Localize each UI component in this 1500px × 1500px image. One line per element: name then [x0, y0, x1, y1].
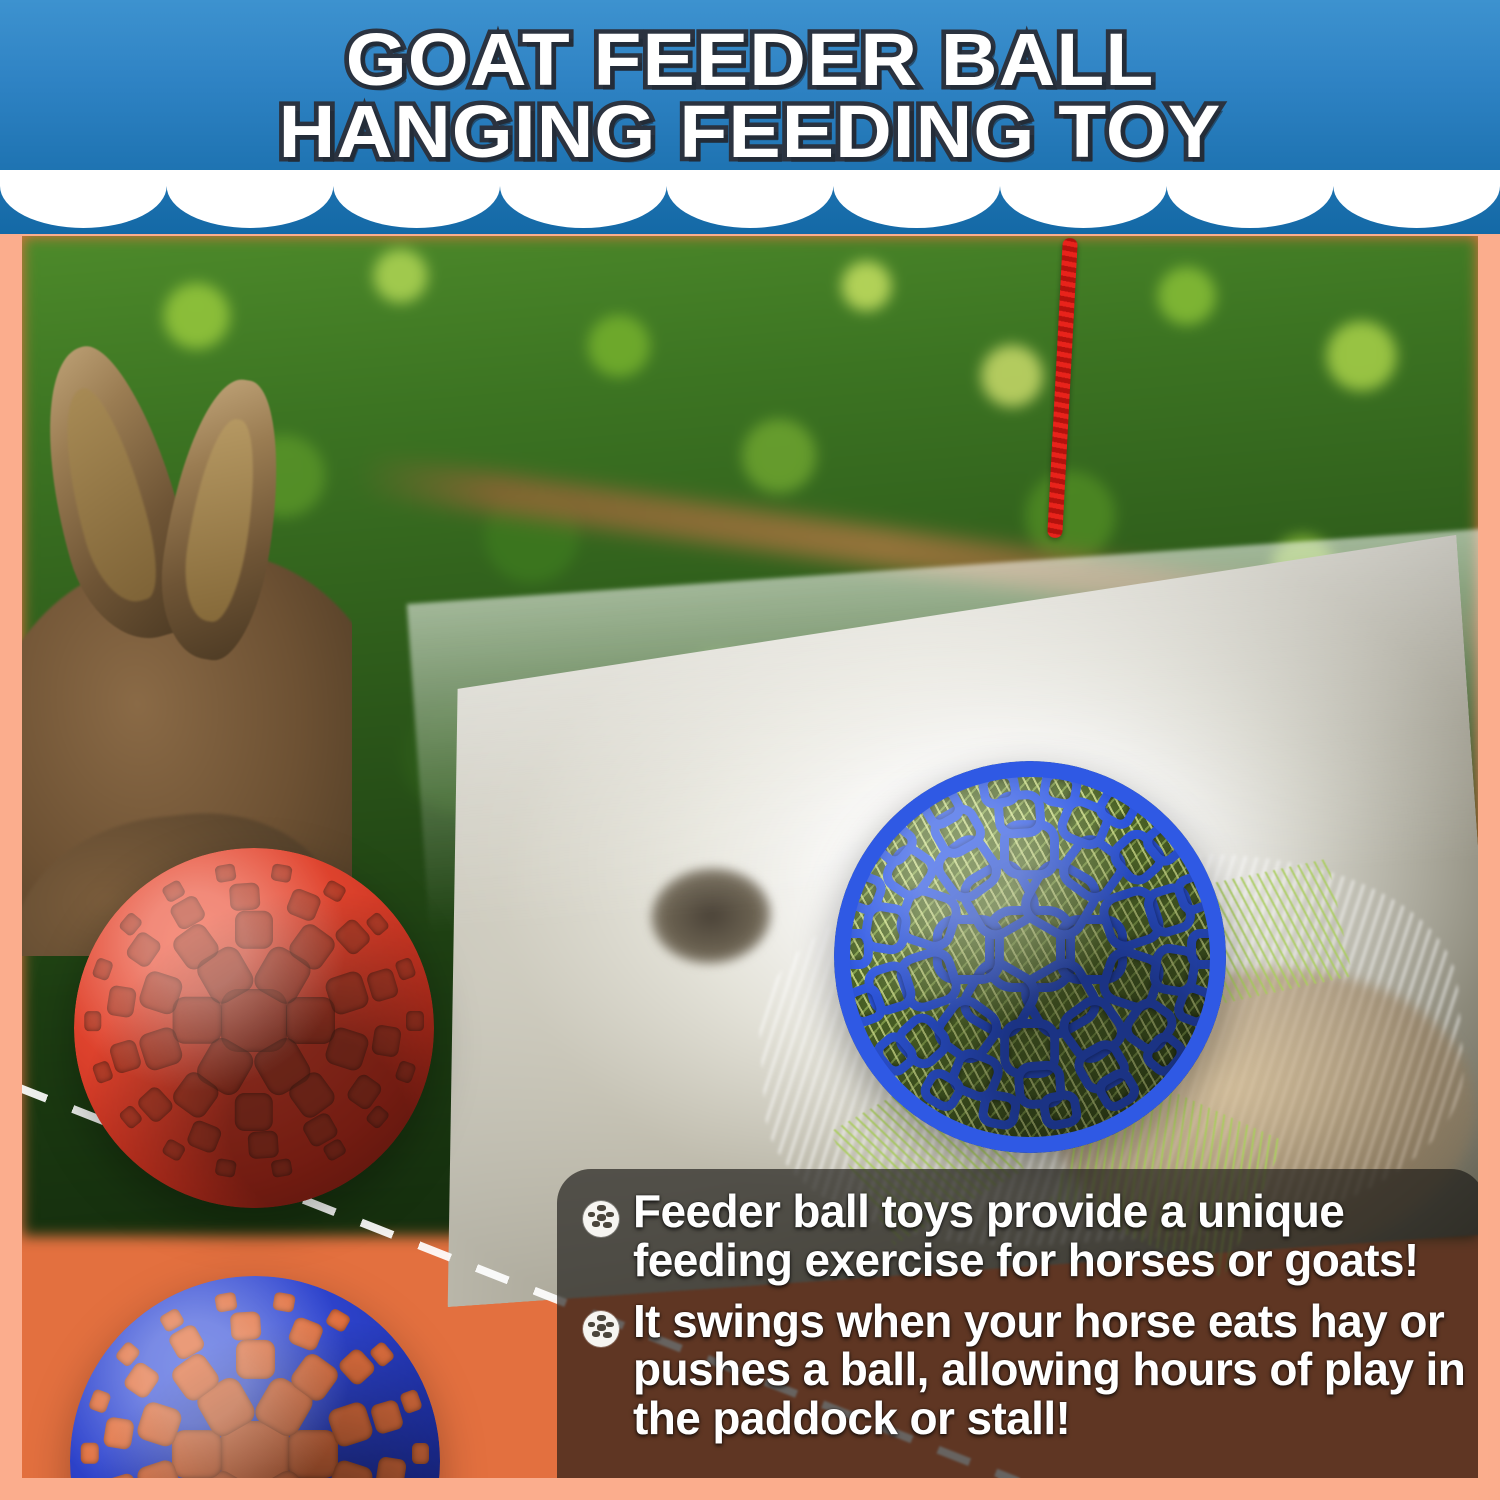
ball-hole [214, 1291, 237, 1312]
product-infographic: Feeder ball toys provide a unique feedin… [0, 0, 1500, 1500]
ball-hole [235, 1093, 273, 1131]
ball-lattice-hanging [834, 761, 1226, 1153]
ball-hole [928, 1077, 956, 1104]
ball-hole [185, 1119, 222, 1155]
ball-hole [88, 1388, 112, 1414]
ball-hole [230, 1311, 262, 1341]
ball-hole [955, 1056, 996, 1095]
ball-hole [406, 1011, 423, 1031]
ball-hole [369, 1398, 404, 1435]
feature-bullet-text: Feeder ball toys provide a unique feedin… [633, 1187, 1469, 1285]
feature-bullet-item: Feeder ball toys provide a unique feedin… [583, 1187, 1469, 1285]
ball-hole [91, 957, 114, 982]
ball-hole [1065, 924, 1118, 975]
ball-hole [215, 863, 238, 884]
ball-hole [942, 924, 995, 975]
ball-hole [375, 1456, 407, 1478]
ball-hole [247, 1131, 278, 1160]
red-feeder-ball [74, 848, 434, 1208]
ball-hole [869, 910, 903, 946]
ball-hole [287, 1316, 325, 1353]
ball-hole [871, 969, 908, 1008]
ball-hole [1048, 777, 1073, 799]
ball-hole [1064, 803, 1105, 842]
ball-hole [1151, 890, 1188, 929]
ball-hole [1104, 1077, 1132, 1104]
ball-hole [845, 938, 864, 960]
ball-hole [324, 1307, 351, 1333]
ball-hole [1003, 798, 1037, 829]
ball-hole [1150, 1040, 1179, 1069]
ball-hole [321, 879, 347, 904]
feature-bullet-list: Feeder ball toys provide a unique feedin… [583, 1187, 1469, 1455]
ball-hole [1023, 1069, 1057, 1100]
ball-hole [412, 1443, 430, 1464]
feeder-ball-icon [583, 1311, 619, 1347]
ball-hole [286, 997, 335, 1044]
ball-hole [271, 1158, 294, 1179]
hanging-feeder-ball [834, 761, 1226, 1153]
ball-hole [853, 991, 878, 1018]
ball-hole [108, 1039, 142, 1075]
ball-hole [987, 777, 1012, 799]
ball-hole [1009, 829, 1050, 870]
ball-lattice-red [74, 848, 434, 1208]
ball-hole [105, 1472, 140, 1478]
ball-hole [91, 1060, 114, 1085]
ball-hole [365, 967, 399, 1003]
ball-hole [172, 1430, 222, 1478]
feature-bullet-text: It swings when your horse eats hay or pu… [633, 1297, 1469, 1443]
ball-hole [853, 880, 878, 907]
ball-hole [399, 1388, 423, 1414]
ball-hole [106, 985, 137, 1018]
feature-text-box: Feeder ball toys provide a unique feedin… [557, 1169, 1478, 1478]
ball-hole [103, 1416, 135, 1450]
ball-hole [371, 1024, 402, 1057]
ball-hole [124, 930, 163, 970]
ball-hole [215, 1158, 238, 1179]
ball-hole [1048, 1099, 1073, 1121]
page-title: GOAT FEEDER BALL HANGING FEEDING TOY [0, 24, 1500, 168]
ball-hole [1182, 880, 1207, 907]
ball-lattice-blue [70, 1276, 440, 1478]
feeder-ball-icon [583, 1201, 619, 1237]
ball-hole [84, 1011, 101, 1031]
ball-hole [1104, 794, 1132, 821]
goat-photo [22, 256, 352, 956]
ball-hole [160, 1138, 186, 1163]
ball-hole [288, 1430, 338, 1478]
ball-hole [1009, 1028, 1050, 1069]
ball-hole [272, 1291, 295, 1312]
ball-hole [81, 1443, 99, 1464]
ball-hole [1182, 991, 1207, 1018]
ball-hole [285, 887, 322, 923]
orange-content-panel: Feeder ball toys provide a unique feedin… [22, 236, 1478, 1478]
scalloped-edge [0, 170, 1500, 250]
ball-hole [394, 1060, 417, 1085]
ball-hole [1196, 938, 1215, 960]
blue-feeder-ball [70, 1276, 440, 1478]
ball-hole [271, 863, 294, 884]
ball-hole [987, 1099, 1012, 1121]
ball-hole [236, 1340, 275, 1379]
feature-bullet-item: It swings when your horse eats hay or pu… [583, 1297, 1469, 1443]
ball-hole [235, 911, 273, 949]
ball-hole [173, 997, 222, 1044]
ball-hole [1157, 952, 1191, 988]
ball-hole [229, 882, 260, 911]
ball-hole [394, 957, 417, 982]
